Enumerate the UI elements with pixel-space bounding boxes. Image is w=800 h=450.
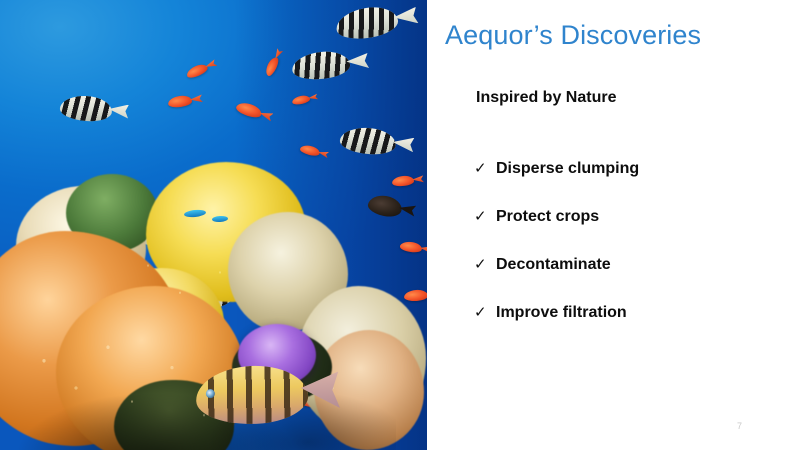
list-item-label: Decontaminate: [496, 255, 611, 275]
bullet-list: ✓ Disperse clumping ✓ Protect crops ✓ De…: [474, 158, 794, 350]
check-icon: ✓: [474, 302, 496, 322]
list-item: ✓ Improve filtration: [474, 302, 794, 350]
check-icon: ✓: [474, 254, 496, 274]
slide: Aequor’s Discoveries Inspired by Nature …: [0, 0, 800, 450]
check-icon: ✓: [474, 206, 496, 226]
page-number: 7: [737, 420, 742, 432]
subheading: Inspired by Nature: [476, 87, 616, 109]
check-icon: ✓: [474, 158, 496, 178]
slide-content-panel: Aequor’s Discoveries Inspired by Nature …: [427, 0, 800, 450]
list-item: ✓ Protect crops: [474, 206, 794, 254]
list-item-label: Disperse clumping: [496, 159, 639, 179]
list-item: ✓ Disperse clumping: [474, 158, 794, 206]
coral-reef-photo: [0, 0, 427, 450]
list-item: ✓ Decontaminate: [474, 254, 794, 302]
large-striped-fish: [195, 363, 310, 427]
list-item-label: Improve filtration: [496, 303, 627, 323]
page-title: Aequor’s Discoveries: [445, 18, 795, 52]
list-item-label: Protect crops: [496, 207, 599, 227]
